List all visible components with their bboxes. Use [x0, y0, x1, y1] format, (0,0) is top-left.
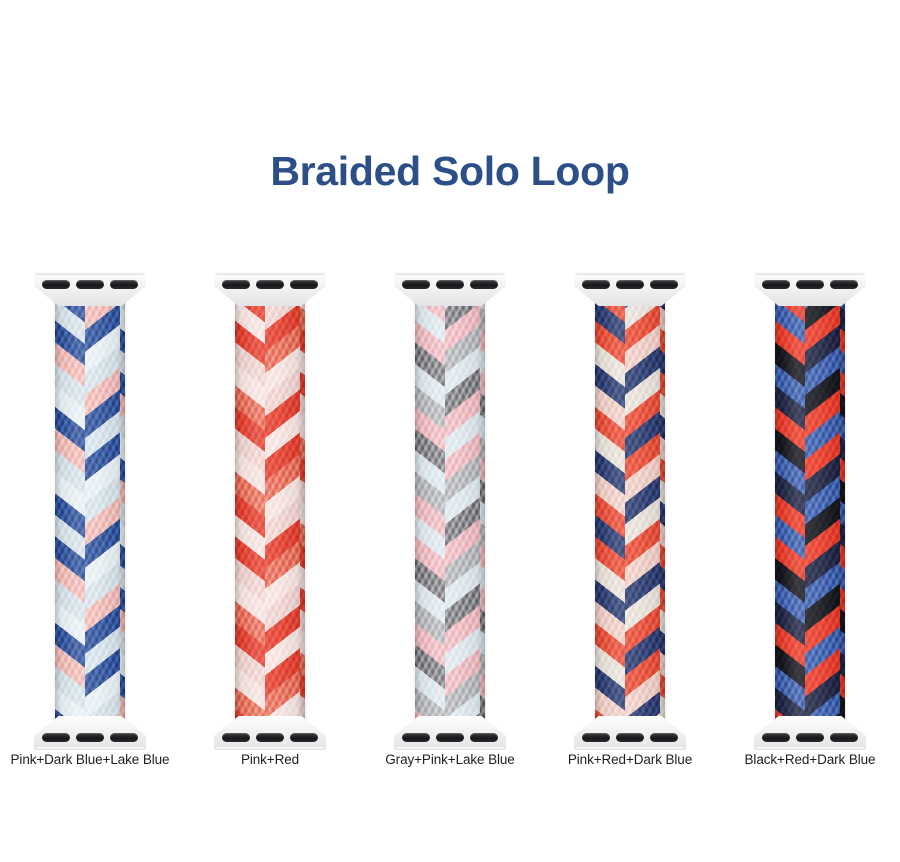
lug-slot-icon: [402, 733, 430, 742]
weave-diagonal-b: [775, 300, 845, 724]
weave-pattern: [775, 300, 845, 724]
lug-slots: [402, 279, 498, 290]
weave-diagonal-b: [235, 300, 305, 724]
product-label: Black+Red+Dark Blue: [720, 752, 900, 767]
weave-diagonal-b: [415, 300, 485, 724]
lug-slot-icon: [470, 733, 498, 742]
watch-lug-top: [394, 272, 506, 306]
braided-strap: [415, 300, 485, 724]
lug-rail: [396, 272, 504, 275]
lug-rail: [576, 747, 684, 750]
lug-slot-icon: [256, 280, 284, 289]
lug-slot-icon: [76, 280, 104, 289]
lug-slot-icon: [110, 733, 138, 742]
lug-slots: [222, 732, 318, 743]
weave-pattern: [55, 300, 125, 724]
lug-rail: [756, 272, 864, 275]
lug-slot-icon: [42, 280, 70, 289]
lug-slot-icon: [110, 280, 138, 289]
lug-slots: [582, 732, 678, 743]
lug-slot-icon: [290, 280, 318, 289]
lug-slot-icon: [436, 280, 464, 289]
lug-rail: [396, 747, 504, 750]
lug-slot-icon: [762, 280, 790, 289]
watch-lug-top: [754, 272, 866, 306]
lug-slots: [762, 279, 858, 290]
product-label: Gray+Pink+Lake Blue: [360, 752, 540, 767]
lug-slots: [222, 279, 318, 290]
braided-strap: [55, 300, 125, 724]
product-item[interactable]: [720, 272, 900, 752]
lug-slot-icon: [76, 733, 104, 742]
weave-diagonal-b: [595, 300, 665, 724]
watch-lug-bottom: [574, 716, 686, 750]
product-item[interactable]: [180, 272, 360, 752]
watch-lug-top: [34, 272, 146, 306]
lug-slot-icon: [290, 733, 318, 742]
braided-strap: [595, 300, 665, 724]
product-label: Pink+Red+Dark Blue: [540, 752, 720, 767]
lug-slot-icon: [650, 733, 678, 742]
lug-slot-icon: [582, 733, 610, 742]
lug-slots: [762, 732, 858, 743]
lug-slot-icon: [762, 733, 790, 742]
lug-slot-icon: [42, 733, 70, 742]
lug-slot-icon: [222, 733, 250, 742]
lug-slot-icon: [796, 733, 824, 742]
product-item[interactable]: [360, 272, 540, 752]
lug-rail: [216, 272, 324, 275]
lug-slots: [582, 279, 678, 290]
product-item[interactable]: [0, 272, 180, 752]
lug-slots: [402, 732, 498, 743]
lug-slots: [42, 732, 138, 743]
lug-slot-icon: [436, 733, 464, 742]
page-title: Braided Solo Loop: [0, 148, 900, 195]
lug-slot-icon: [582, 280, 610, 289]
watch-lug-bottom: [394, 716, 506, 750]
lug-slot-icon: [402, 280, 430, 289]
watch-lug-top: [574, 272, 686, 306]
watch-lug-bottom: [34, 716, 146, 750]
lug-rail: [36, 272, 144, 275]
braided-strap: [235, 300, 305, 724]
lug-rail: [756, 747, 864, 750]
weave-pattern: [235, 300, 305, 724]
weave-pattern: [415, 300, 485, 724]
lug-slot-icon: [830, 733, 858, 742]
watch-lug-top: [214, 272, 326, 306]
lug-slot-icon: [256, 733, 284, 742]
product-item[interactable]: [540, 272, 720, 752]
lug-rail: [36, 747, 144, 750]
lug-slot-icon: [616, 280, 644, 289]
braided-strap: [775, 300, 845, 724]
product-label: Pink+Red: [180, 752, 360, 767]
watch-lug-bottom: [214, 716, 326, 750]
lug-slot-icon: [830, 280, 858, 289]
lug-slot-icon: [616, 733, 644, 742]
lug-slot-icon: [470, 280, 498, 289]
lug-slot-icon: [222, 280, 250, 289]
weave-diagonal-b: [55, 300, 125, 724]
product-gallery: [0, 272, 900, 752]
weave-pattern: [595, 300, 665, 724]
product-label: Pink+Dark Blue+Lake Blue: [0, 752, 180, 767]
lug-slot-icon: [796, 280, 824, 289]
watch-lug-bottom: [754, 716, 866, 750]
lug-rail: [576, 272, 684, 275]
lug-rail: [216, 747, 324, 750]
lug-slot-icon: [650, 280, 678, 289]
lug-slots: [42, 279, 138, 290]
